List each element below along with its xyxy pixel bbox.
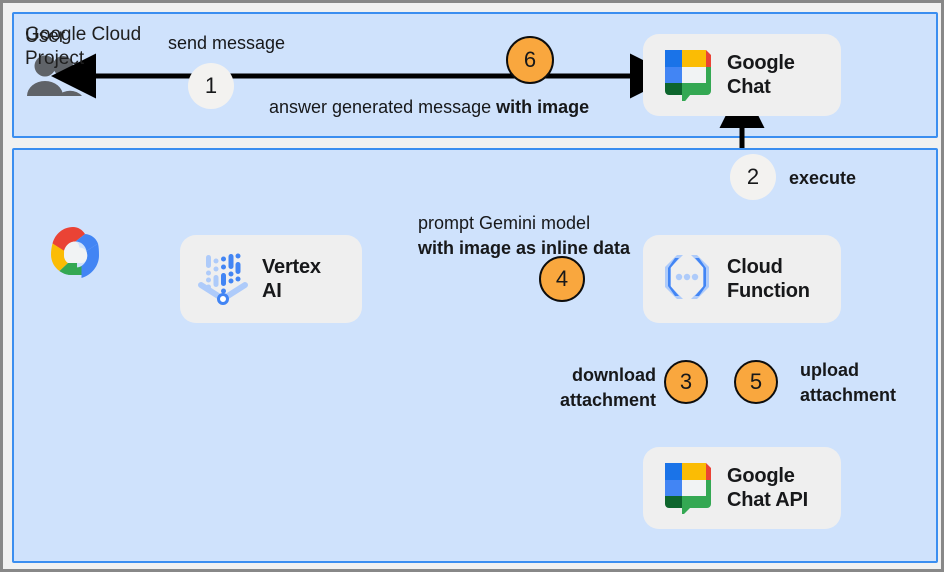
vertex-ai-icon bbox=[196, 249, 250, 310]
node-cloud-function-label: Cloud Function bbox=[727, 255, 810, 303]
prompt-line-1: prompt Gemini model bbox=[418, 213, 590, 233]
google-chat-icon bbox=[659, 45, 715, 106]
step-badge-2: 2 bbox=[730, 154, 776, 200]
step-badge-3: 3 bbox=[664, 360, 708, 404]
google-cloud-icon bbox=[37, 223, 109, 290]
google-chat-icon bbox=[659, 458, 715, 519]
prompt-line-2: with image as inline data bbox=[418, 236, 630, 261]
edge-label-send-message: send message bbox=[168, 31, 285, 56]
step-badge-5: 5 bbox=[734, 360, 778, 404]
answer-bold: with image bbox=[496, 97, 589, 117]
panel-gcp-title: Google Cloud Project bbox=[25, 23, 141, 71]
node-google-chat-label: Google Chat bbox=[727, 51, 795, 99]
answer-prefix: answer generated message bbox=[269, 97, 496, 117]
step-badge-4: 4 bbox=[539, 256, 585, 302]
node-cloud-function[interactable]: Cloud Function bbox=[643, 235, 841, 323]
node-google-chat[interactable]: Google Chat bbox=[643, 34, 841, 116]
edge-label-answer-message: answer generated message with image bbox=[269, 95, 589, 120]
node-vertex-ai-label: Vertex AI bbox=[262, 255, 321, 303]
step-badge-6: 6 bbox=[506, 36, 554, 84]
diagram-canvas: User bbox=[0, 0, 944, 572]
node-google-chat-api[interactable]: Google Chat API bbox=[643, 447, 841, 529]
edge-label-execute: execute bbox=[789, 166, 856, 191]
step-badge-1: 1 bbox=[188, 63, 234, 109]
cloud-function-icon bbox=[659, 249, 715, 310]
node-vertex-ai[interactable]: Vertex AI bbox=[180, 235, 362, 323]
edge-label-upload-attachment: upload attachment bbox=[800, 358, 896, 408]
edge-label-download-attachment: download attachment bbox=[536, 363, 656, 413]
node-google-chat-api-label: Google Chat API bbox=[727, 464, 808, 512]
edge-label-prompt-gemini: prompt Gemini model with image as inline… bbox=[418, 186, 630, 286]
